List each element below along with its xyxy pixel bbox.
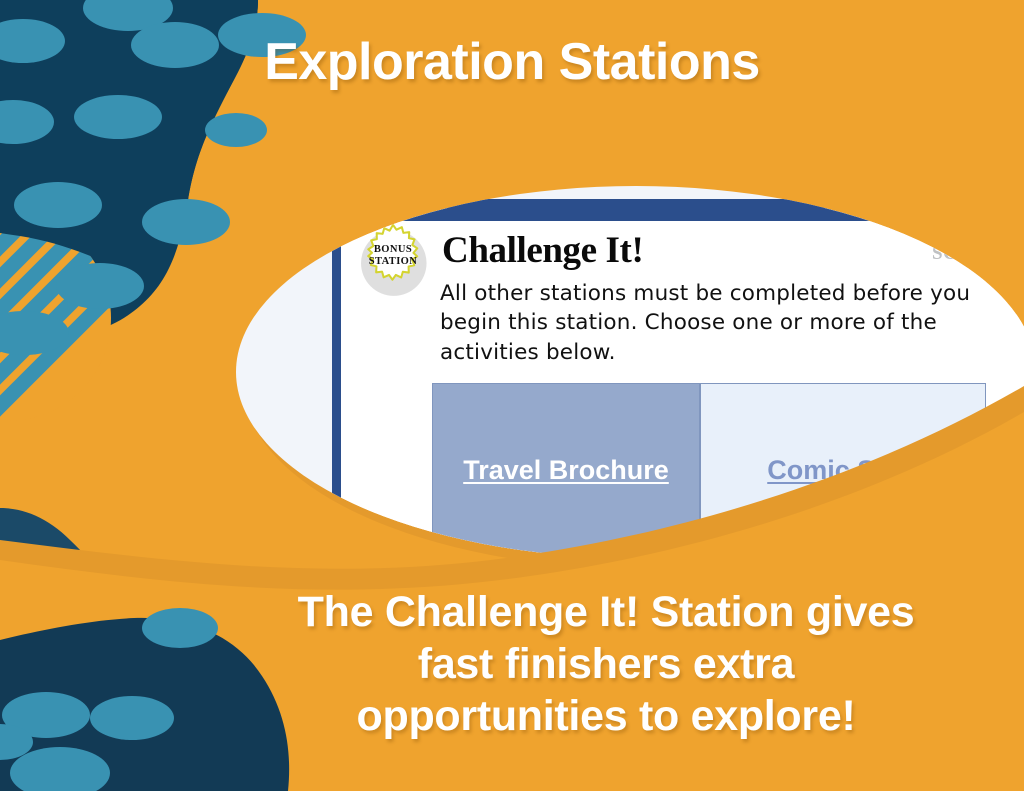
slide-canvas: Exploration Stations BONUS STATION [0,0,1024,791]
worksheet-border-top [332,199,1024,208]
activity-options-table: Travel Brochure Comic Strip [432,383,986,558]
activity-cell-comic-strip[interactable]: Comic Strip [700,383,986,558]
activity-label-comic-strip[interactable]: Comic Strip [767,454,919,486]
kesler-science-logo: KESLER SCIENCE [932,227,1024,263]
worksheet-border-left [332,199,341,507]
worksheet-page: BONUS STATION KESLER SCIENCE Challenge I… [332,199,1024,558]
caption-block: The Challenge It! Station gives fast fin… [236,586,976,742]
caption-line-3: opportunities to explore! [236,690,976,742]
worksheet-instructions: All other stations must be completed bef… [440,279,1000,367]
page-title: Exploration Stations [0,32,1024,92]
logo-line-2: SCIENCE [932,245,1024,263]
activity-cell-travel-brochure[interactable]: Travel Brochure [432,383,700,558]
svg-text:BONUS: BONUS [374,244,412,255]
activity-label-travel-brochure[interactable]: Travel Brochure [463,454,669,486]
svg-text:STATION: STATION [369,256,418,267]
worksheet-oval-frame: BONUS STATION KESLER SCIENCE Challenge I… [236,186,1024,558]
worksheet-title: Challenge It! [442,229,643,272]
bonus-station-badge-icon: BONUS STATION [354,221,432,299]
caption-line-1: The Challenge It! Station gives [236,586,976,638]
caption-line-2: fast finishers extra [236,638,976,690]
